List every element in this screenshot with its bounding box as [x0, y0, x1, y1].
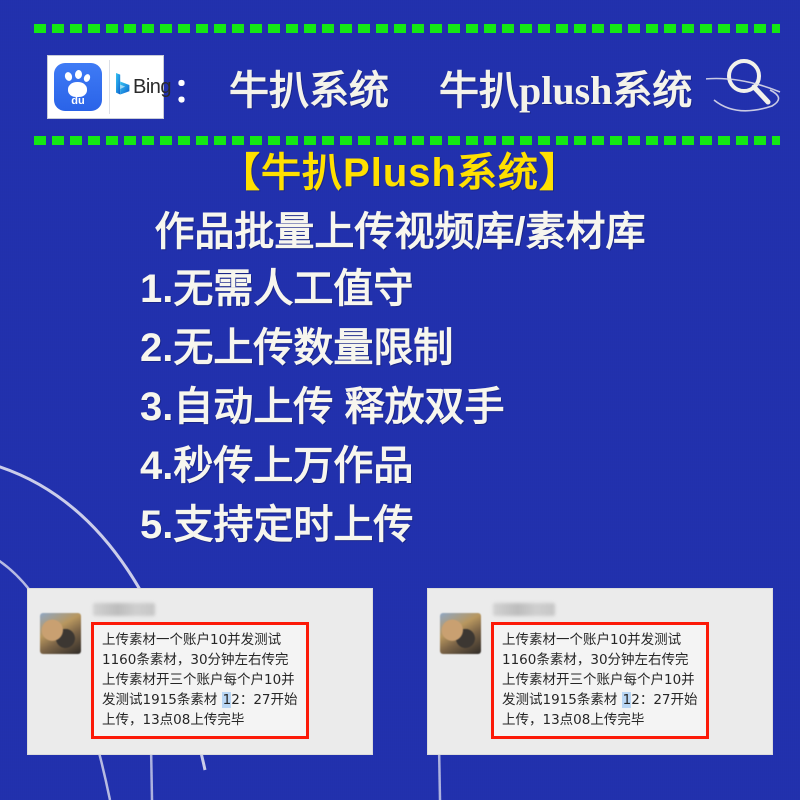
content-block: 【牛扒Plush系统】 作品批量上传视频库/素材库 1.无需人工值守 2.无上传… [0, 148, 800, 555]
promo-poster: du Bing [0, 0, 800, 800]
page-title: 【牛扒Plush系统】 [220, 148, 580, 198]
chat-line-highlight: 1 [622, 692, 632, 708]
baidu-logo-label: du [54, 96, 102, 107]
chat-line-text: 1160条素材，30分钟左右传完 [502, 652, 689, 668]
chat-line-highlight: 1 [222, 692, 232, 708]
chat-line-text: 上传素材开三个账户每个户10并 [502, 672, 695, 688]
bing-logo-icon: Bing [114, 72, 171, 102]
chat-line: 上传素材一个账户10并发测试 [502, 630, 698, 650]
avatar [40, 613, 81, 654]
chat-line-text: 上传素材一个账户10并发测试 [502, 632, 681, 648]
header-phrase-secondary: 牛扒plush系统 [439, 58, 692, 116]
sender-name-redacted [493, 603, 555, 616]
chat-line: 1160条素材，30分钟左右传完 [102, 650, 298, 670]
chat-line: 上传素材开三个账户每个户10并 [502, 670, 698, 690]
sender-name-redacted [93, 603, 155, 616]
chat-body: 上传素材一个账户10并发测试 1160条素材，30分钟左右传完 上传素材开三个账… [491, 601, 758, 739]
chat-line-text: 上传，13点08上传完毕 [102, 712, 244, 728]
chat-body: 上传素材一个账户10并发测试 1160条素材，30分钟左右传完 上传素材开三个账… [91, 601, 358, 739]
bing-logo-label: Bing [133, 76, 171, 99]
avatar [440, 613, 481, 654]
chat-screenshot-card: 上传素材一个账户10并发测试 1160条素材，30分钟左右传完 上传素材开三个账… [28, 589, 372, 754]
chat-line-text: 1160条素材，30分钟左右传完 [102, 652, 289, 668]
chat-line: 上传，13点08上传完毕 [502, 710, 698, 730]
logo-divider [109, 60, 110, 114]
chat-line-text: 发测试1915条素材 [502, 692, 622, 708]
chat-line: 上传素材开三个账户每个户10并 [102, 670, 298, 690]
baidu-logo-icon: du [54, 63, 102, 111]
divider-dashed-top [34, 24, 780, 33]
header-bar: du Bing [0, 44, 800, 130]
header-phrase-primary: 牛扒系统 [229, 58, 389, 116]
header-colon: ： [173, 63, 207, 112]
chat-bubble: 上传素材一个账户10并发测试 1160条素材，30分钟左右传完 上传素材开三个账… [491, 622, 709, 739]
magnifier-icon [706, 50, 782, 130]
list-item: 1.无需人工值守 [140, 260, 560, 319]
list-item: 3.自动上传 释放双手 [140, 378, 560, 437]
chat-line-text: 发测试1915条素材 [102, 692, 222, 708]
chat-line: 上传，13点08上传完毕 [102, 710, 298, 730]
chat-line: 发测试1915条素材 12：27开始 [502, 690, 698, 710]
list-item: 2.无上传数量限制 [140, 319, 560, 378]
chat-line: 发测试1915条素材 12：27开始 [102, 690, 298, 710]
chat-line-text: 上传，13点08上传完毕 [502, 712, 644, 728]
chat-screenshot-card: 上传素材一个账户10并发测试 1160条素材，30分钟左右传完 上传素材开三个账… [428, 589, 772, 754]
search-engine-logo-group: du Bing [48, 56, 163, 118]
chat-line-text: 上传素材一个账户10并发测试 [102, 632, 281, 648]
chat-line: 1160条素材，30分钟左右传完 [502, 650, 698, 670]
divider-dashed-header [34, 136, 780, 145]
feature-list: 1.无需人工值守 2.无上传数量限制 3.自动上传 释放双手 4.秒传上万作品 … [140, 260, 560, 555]
chat-line-text: 2：27开始 [231, 692, 297, 708]
list-item: 5.支持定时上传 [140, 496, 560, 555]
chat-bubble: 上传素材一个账户10并发测试 1160条素材，30分钟左右传完 上传素材开三个账… [91, 622, 309, 739]
proof-screenshot-row: 上传素材一个账户10并发测试 1160条素材，30分钟左右传完 上传素材开三个账… [0, 589, 800, 754]
chat-line: 上传素材一个账户10并发测试 [102, 630, 298, 650]
chat-line-text: 上传素材开三个账户每个户10并 [102, 672, 295, 688]
headline-text: 作品批量上传视频库/素材库 [0, 204, 800, 260]
list-item: 4.秒传上万作品 [140, 437, 560, 496]
chat-line-text: 2：27开始 [631, 692, 697, 708]
